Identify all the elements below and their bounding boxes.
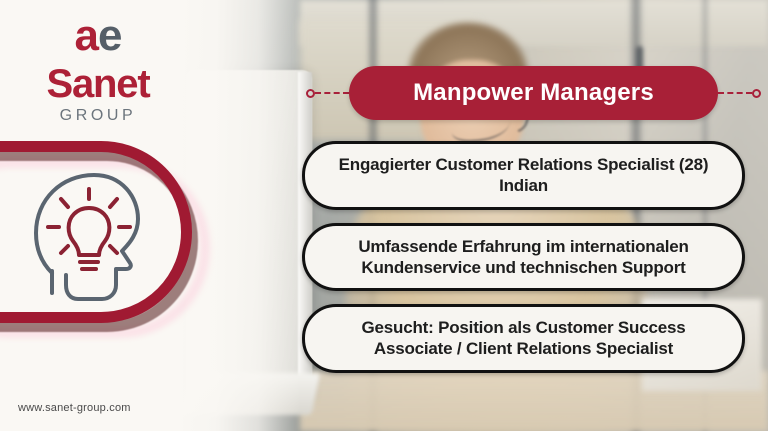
list-item[interactable]: Engagierter Customer Relations Specialis… (302, 141, 745, 210)
page-title: Manpower Managers (413, 79, 654, 107)
highlight-card-list: Engagierter Customer Relations Specialis… (302, 141, 745, 373)
monogram-letter-e: e (98, 11, 121, 60)
connector-dashed-line-right (718, 92, 752, 94)
list-item[interactable]: Gesucht: Position als Customer Success A… (302, 304, 745, 373)
connector-dot-right-icon (752, 89, 761, 98)
head-with-lightbulb-icon (18, 163, 158, 313)
card-text: Gesucht: Position als Customer Success A… (327, 317, 720, 360)
ae-monogram-icon: ae (18, 14, 178, 62)
brand-logo: ae Sanet GROUP (18, 14, 178, 125)
slide-canvas: ae Sanet GROUP www.sanet-group.com Manpo… (0, 0, 768, 431)
title-banner: Manpower Managers (306, 66, 761, 120)
footer-website-url[interactable]: www.sanet-group.com (18, 402, 131, 414)
list-item[interactable]: Umfassende Erfahrung im internationalen … (302, 223, 745, 292)
connector-dot-left-icon (306, 89, 315, 98)
logo-subtitle: GROUP (18, 107, 178, 125)
title-badge: Manpower Managers (349, 66, 718, 120)
card-text: Umfassende Erfahrung im internationalen … (327, 236, 720, 279)
monogram-letter-a: a (75, 11, 98, 60)
card-text: Engagierter Customer Relations Specialis… (327, 154, 720, 197)
logo-wordmark: Sanet (18, 64, 178, 104)
connector-dashed-line-left (315, 92, 349, 94)
